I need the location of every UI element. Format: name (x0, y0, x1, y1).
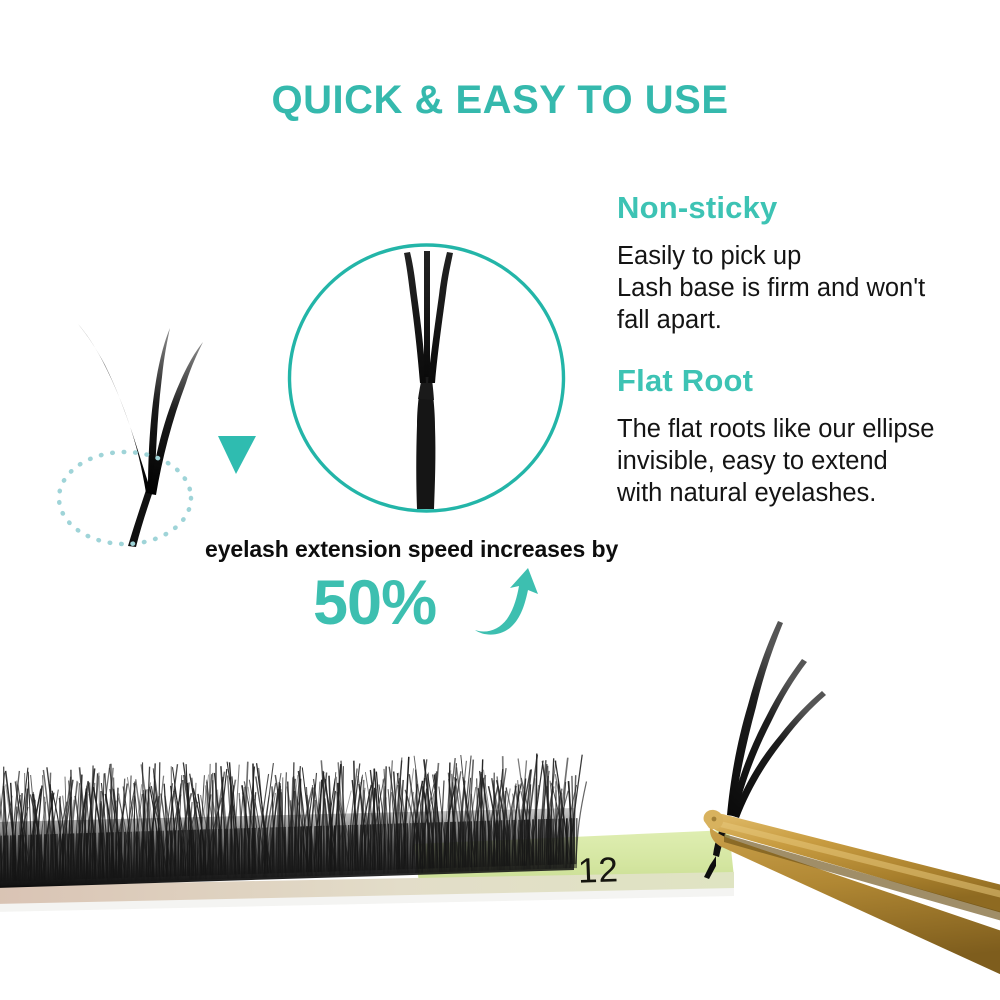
feature-line: Lash base is firm and won't (617, 274, 925, 302)
up-trend-arrow-icon (472, 566, 542, 638)
page-title: QUICK & EASY TO USE (0, 78, 1000, 123)
feature-heading-flat-root: Flat Root (617, 363, 934, 399)
feature-line: fall apart. (617, 306, 722, 334)
feature-line: Easily to pick up (617, 242, 801, 270)
feature-block-non-sticky: Non-sticky Easily to pick up Lash base i… (617, 190, 925, 336)
tray-label-number: 12 (577, 850, 619, 892)
triangle-pointer-right-icon (216, 432, 258, 476)
eyelash-extension-tray (0, 672, 734, 942)
feature-heading-non-sticky: Non-sticky (617, 190, 925, 226)
feature-body-flat-root: The flat roots like our ellipse invisibl… (617, 413, 934, 509)
gold-tweezers-holding-lash-fan (680, 565, 1000, 1000)
speed-caption: eyelash extension speed increases by (205, 536, 618, 563)
feature-body-non-sticky: Easily to pick up Lash base is firm and … (617, 240, 925, 336)
feature-line: with natural eyelashes. (617, 479, 876, 507)
feature-line: invisible, easy to extend (617, 447, 888, 475)
feature-line: The flat roots like our ellipse (617, 415, 934, 443)
dotted-circle-highlight-icon (55, 448, 195, 548)
product-feature-image: QUICK & EASY TO USE (0, 0, 1000, 1000)
speed-percentage: 50% (313, 572, 436, 635)
magnifier-ellipse-outline-icon (287, 243, 566, 513)
feature-block-flat-root: Flat Root The flat roots like our ellips… (617, 363, 934, 509)
